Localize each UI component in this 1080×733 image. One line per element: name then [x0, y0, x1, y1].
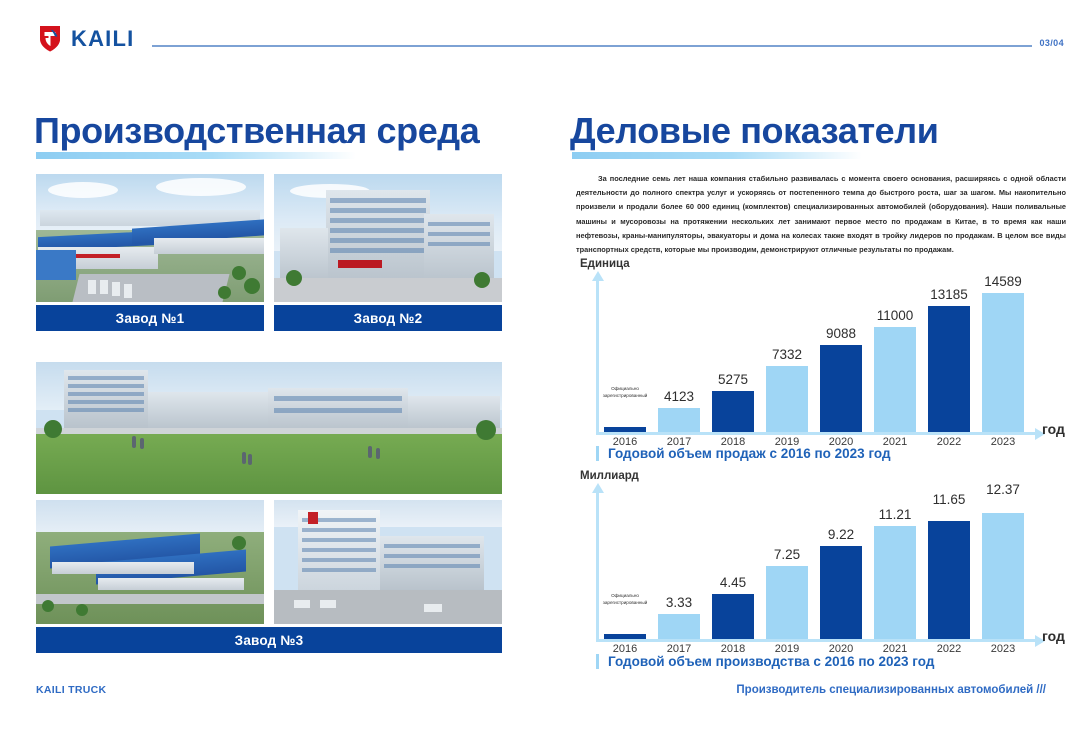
photo-factory-3-right[interactable] [274, 500, 502, 624]
note-line-1: Официально [611, 593, 639, 598]
window-band [384, 544, 480, 548]
chart2-value-2018: 4.45 [708, 575, 758, 590]
left-title-underline [36, 152, 356, 159]
tree-shape [76, 604, 88, 616]
chart1-bar-2023[interactable] [982, 293, 1024, 432]
left-section-title: Производственная среда [34, 110, 479, 152]
chart1-value-2018: 5275 [708, 372, 758, 387]
brand-name: KAILI [71, 26, 134, 52]
chart1-tick-2023: 2023 [982, 436, 1024, 448]
chart1-value-2017: 4123 [654, 389, 704, 404]
header-divider [152, 45, 1032, 47]
chart2-bar-2023[interactable] [982, 513, 1024, 639]
chart2-value-2019: 7.25 [762, 547, 812, 562]
chart1-value-2022: 13185 [922, 287, 976, 302]
chart1-bar-2021[interactable] [874, 327, 916, 432]
parked-vehicle [88, 280, 96, 294]
note-line-2: зарегистрированный [603, 600, 648, 605]
production-volume-chart: Миллиард год Официально зарегистрированн… [570, 470, 1070, 660]
chart1-x-axis-label: год [1042, 421, 1065, 437]
chart1-bar-2020[interactable] [820, 345, 862, 432]
page-number: 03/04 [1039, 38, 1064, 48]
brand-logo[interactable]: KAILI [38, 24, 134, 53]
company-sign [308, 512, 318, 524]
access-road [36, 594, 264, 604]
chart1-bar-2016[interactable] [604, 427, 646, 432]
window-band [274, 408, 402, 413]
plaza-pavement [274, 278, 502, 302]
chart1-value-2020: 9088 [816, 326, 866, 341]
parked-vehicle [100, 280, 108, 294]
window-band [68, 400, 144, 404]
warehouse-wall [98, 578, 244, 590]
person-figure [376, 448, 380, 459]
chart1-y-axis [596, 280, 599, 435]
window-band [302, 558, 376, 562]
footer-tagline: Производитель специализированных автомоб… [736, 684, 1046, 696]
tree-shape [44, 420, 62, 438]
person-figure [368, 446, 372, 458]
photo-sky [36, 500, 264, 532]
chart2-value-2021: 11.21 [868, 507, 922, 522]
photo-factory-3-left[interactable] [36, 500, 264, 624]
chart2-bar-2021[interactable] [874, 526, 916, 639]
photo-caption-1: Завод №1 [36, 305, 264, 331]
window-band [428, 242, 490, 246]
tree-shape [476, 420, 496, 440]
chart2-bar-2020[interactable] [820, 546, 862, 639]
right-title-underline [572, 152, 862, 159]
parked-vehicle [320, 600, 336, 608]
person-figure [248, 454, 252, 465]
photo-campus-wide[interactable] [36, 362, 502, 494]
chart1-bar-2022[interactable] [928, 306, 970, 432]
factory-block [148, 392, 268, 430]
window-band [384, 564, 480, 568]
window-band [302, 568, 376, 572]
tree-shape [286, 270, 302, 286]
window-band [302, 548, 376, 552]
note-line-1: Официально [611, 386, 639, 391]
warehouse-wall [52, 562, 194, 574]
window-band [302, 528, 376, 532]
footer-brand: KAILI TRUCK [36, 684, 106, 696]
parked-vehicle [294, 600, 310, 608]
company-sign [338, 260, 382, 268]
chart1-bar-2017[interactable] [658, 408, 700, 432]
tree-shape [232, 266, 246, 280]
person-figure [132, 436, 136, 448]
warehouse-wall [154, 238, 264, 254]
chart2-bar-2016[interactable] [604, 634, 646, 639]
note-line-2: зарегистрированный [603, 393, 648, 398]
window-band [428, 222, 490, 226]
chart2-bar-2019[interactable] [766, 566, 808, 639]
chart2-y-axis-label: Миллиард [580, 470, 639, 482]
window-band [428, 232, 490, 236]
person-figure [242, 452, 246, 464]
photo-caption-2: Завод №2 [274, 305, 502, 331]
person-figure [140, 438, 144, 449]
cloud-shape [48, 182, 118, 198]
tree-shape [232, 536, 246, 550]
chart1-caption: Годовой объем продаж с 2016 по 2023 год [596, 446, 891, 461]
parked-vehicle [124, 284, 132, 298]
window-band [330, 218, 426, 223]
chart2-x-axis [596, 639, 1036, 642]
window-band [330, 228, 426, 233]
page-header: KAILI 03/04 [0, 0, 1080, 70]
chart2-first-bar-note: Официально зарегистрированный [596, 593, 654, 607]
chart1-value-2021: 11000 [868, 308, 922, 323]
chart1-x-axis [596, 432, 1036, 435]
chart2-bar-2018[interactable] [712, 594, 754, 639]
chart1-bar-2018[interactable] [712, 391, 754, 432]
window-band [330, 238, 426, 243]
tree-shape [218, 286, 231, 299]
chart2-bar-2017[interactable] [658, 614, 700, 639]
photo-factory-2[interactable] [274, 174, 502, 302]
sales-volume-chart: Единица год Официально зарегистрированны… [570, 258, 1070, 453]
access-road [73, 274, 230, 302]
chart2-value-2017: 3.33 [654, 595, 704, 610]
walkway [36, 428, 502, 434]
lawn-area [36, 428, 502, 494]
chart2-tick-2023: 2023 [982, 643, 1024, 655]
chart1-value-2019: 7332 [762, 347, 812, 362]
chart2-value-2020: 9.22 [816, 527, 866, 542]
tree-shape [474, 272, 490, 288]
chart1-value-2023: 14589 [976, 274, 1030, 289]
chart2-x-axis-label: год [1042, 628, 1065, 644]
photo-factory-1[interactable] [36, 174, 264, 302]
parked-vehicle [424, 604, 442, 612]
right-section-title: Деловые показатели [570, 110, 939, 152]
chart1-tick-2022: 2022 [928, 436, 970, 448]
parked-vehicle [112, 282, 120, 296]
chart1-bar-2019[interactable] [766, 366, 808, 432]
window-band [68, 384, 144, 388]
chart1-first-bar-note: Официально зарегистрированный [596, 386, 654, 400]
tree-shape [244, 278, 260, 294]
window-band [68, 392, 144, 396]
window-band [330, 198, 426, 203]
chart1-y-axis-label: Единица [580, 258, 630, 270]
chart2-caption: Годовой объем производства с 2016 по 202… [596, 654, 934, 669]
window-band [68, 376, 144, 380]
warehouse-roof [36, 250, 76, 280]
chart2-bar-2022[interactable] [928, 521, 970, 639]
business-intro-paragraph: За последние семь лет наша компания стаб… [576, 172, 1066, 257]
chart2-value-2022: 11.65 [922, 492, 976, 507]
cloud-shape [156, 178, 246, 196]
window-band [68, 408, 144, 412]
chart2-y-axis [596, 492, 599, 642]
office-tower [326, 190, 430, 282]
window-band [274, 396, 402, 401]
chart2-value-2023: 12.37 [976, 482, 1030, 497]
window-band [384, 554, 480, 558]
tree-shape [42, 600, 54, 612]
window-band [330, 248, 426, 253]
window-band [330, 208, 426, 213]
window-band [302, 538, 376, 542]
photo-caption-3: Завод №3 [36, 627, 502, 653]
kaili-shield-logo-icon [38, 24, 62, 53]
